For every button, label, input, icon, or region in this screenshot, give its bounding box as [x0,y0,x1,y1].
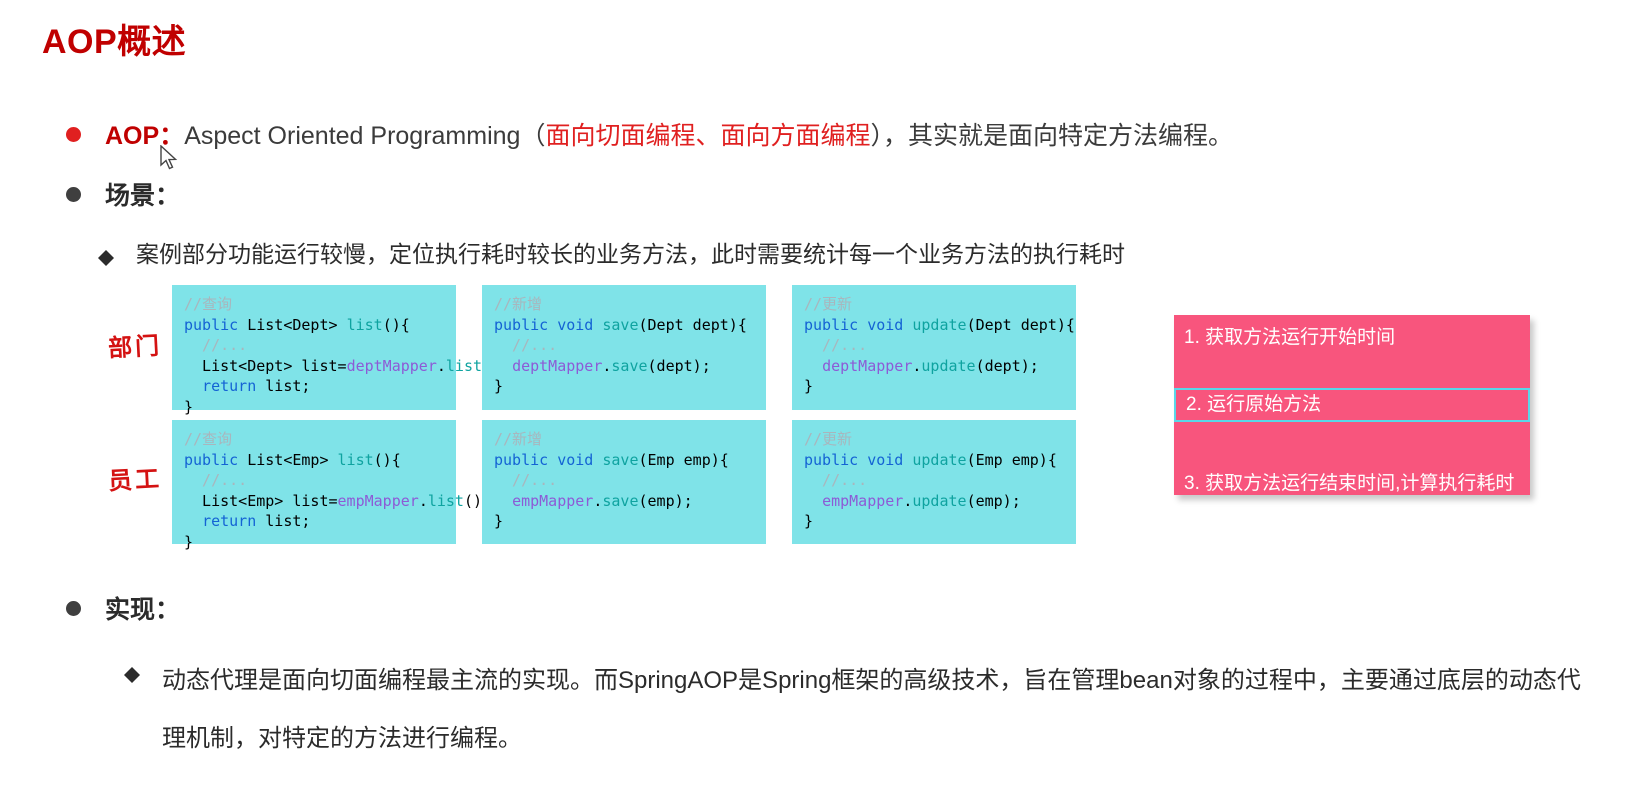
step-item-2-highlighted: 2. 运行原始方法 [1174,388,1530,422]
bullet-impl-label: 实现： [105,590,180,626]
bullet-dot-gray-scene [66,187,81,202]
bullet-dynamic-proxy: 动态代理是面向切面编程最主流的实现。而SpringAOP是Spring框架的高级… [124,652,1582,768]
code-block-emp-update: //更新 public void update(Emp emp){ //... … [792,420,1076,544]
code-row-emp: //查询 public List<Emp> list(){ //... List… [172,420,1076,544]
code-row-dept: //查询 public List<Dept> list(){ //... Lis… [172,285,1076,410]
step-item-1: 1. 获取方法运行开始时间 [1174,322,1530,349]
diamond-bullet-icon-2 [124,659,140,675]
bullet-case: 案例部分功能运行较慢，定位执行耗时较长的业务方法，此时需要统计每一个业务方法的执… [98,235,1125,269]
bullet-aop-content: AOP：Aspect Oriented Programming（面向切面编程、面… [105,116,1233,152]
bullet-dot-gray-impl [66,601,81,616]
code-block-dept-query: //查询 public List<Dept> list(){ //... Lis… [172,285,456,410]
bullet-aop: AOP：Aspect Oriented Programming（面向切面编程、面… [66,116,1233,152]
step-item-3: 3. 获取方法运行结束时间,计算执行耗时 [1174,468,1530,495]
page-title: AOP概述 [42,14,186,63]
annotation-emp-label: 员工 [107,459,163,497]
code-block-emp-query: //查询 public List<Emp> list(){ //... List… [172,420,456,544]
bullet-scene-label: 场景： [105,176,180,212]
annotation-dept-label: 部门 [107,326,163,364]
diamond-bullet-icon [98,242,114,258]
dynamic-proxy-line1: 动态代理是面向切面编程最主流的实现。而SpringAOP是Spring框架的高级… [162,667,1509,694]
bullet-scene: 场景： [66,176,180,212]
slide-canvas: AOP概述 AOP：Aspect Oriented Programming（面向… [0,0,1632,791]
bullet-dot-red [66,127,81,142]
bullet-dynamic-proxy-text: 动态代理是面向切面编程最主流的实现。而SpringAOP是Spring框架的高级… [162,652,1582,768]
bullet-aop-tail: ），其实就是面向特定方法编程。 [870,122,1233,150]
bullet-case-text: 案例部分功能运行较慢，定位执行耗时较长的业务方法，此时需要统计每一个业务方法的执… [136,235,1125,269]
bullet-aop-highlight: 面向切面编程、面向方面编程 [545,122,870,150]
code-grid: //查询 public List<Dept> list(){ //... Lis… [172,285,1076,544]
mouse-cursor-icon [160,145,180,173]
code-block-dept-save: //新增 public void save(Dept dept){ //... … [482,285,766,410]
bullet-aop-english: Aspect Oriented Programming（ [184,122,545,150]
code-block-dept-update: //更新 public void update(Dept dept){ //..… [792,285,1076,410]
code-block-emp-save: //新增 public void save(Emp emp){ //... em… [482,420,766,544]
steps-panel: 1. 获取方法运行开始时间 2. 运行原始方法 3. 获取方法运行结束时间,计算… [1174,315,1530,495]
bullet-impl: 实现： [66,590,180,626]
